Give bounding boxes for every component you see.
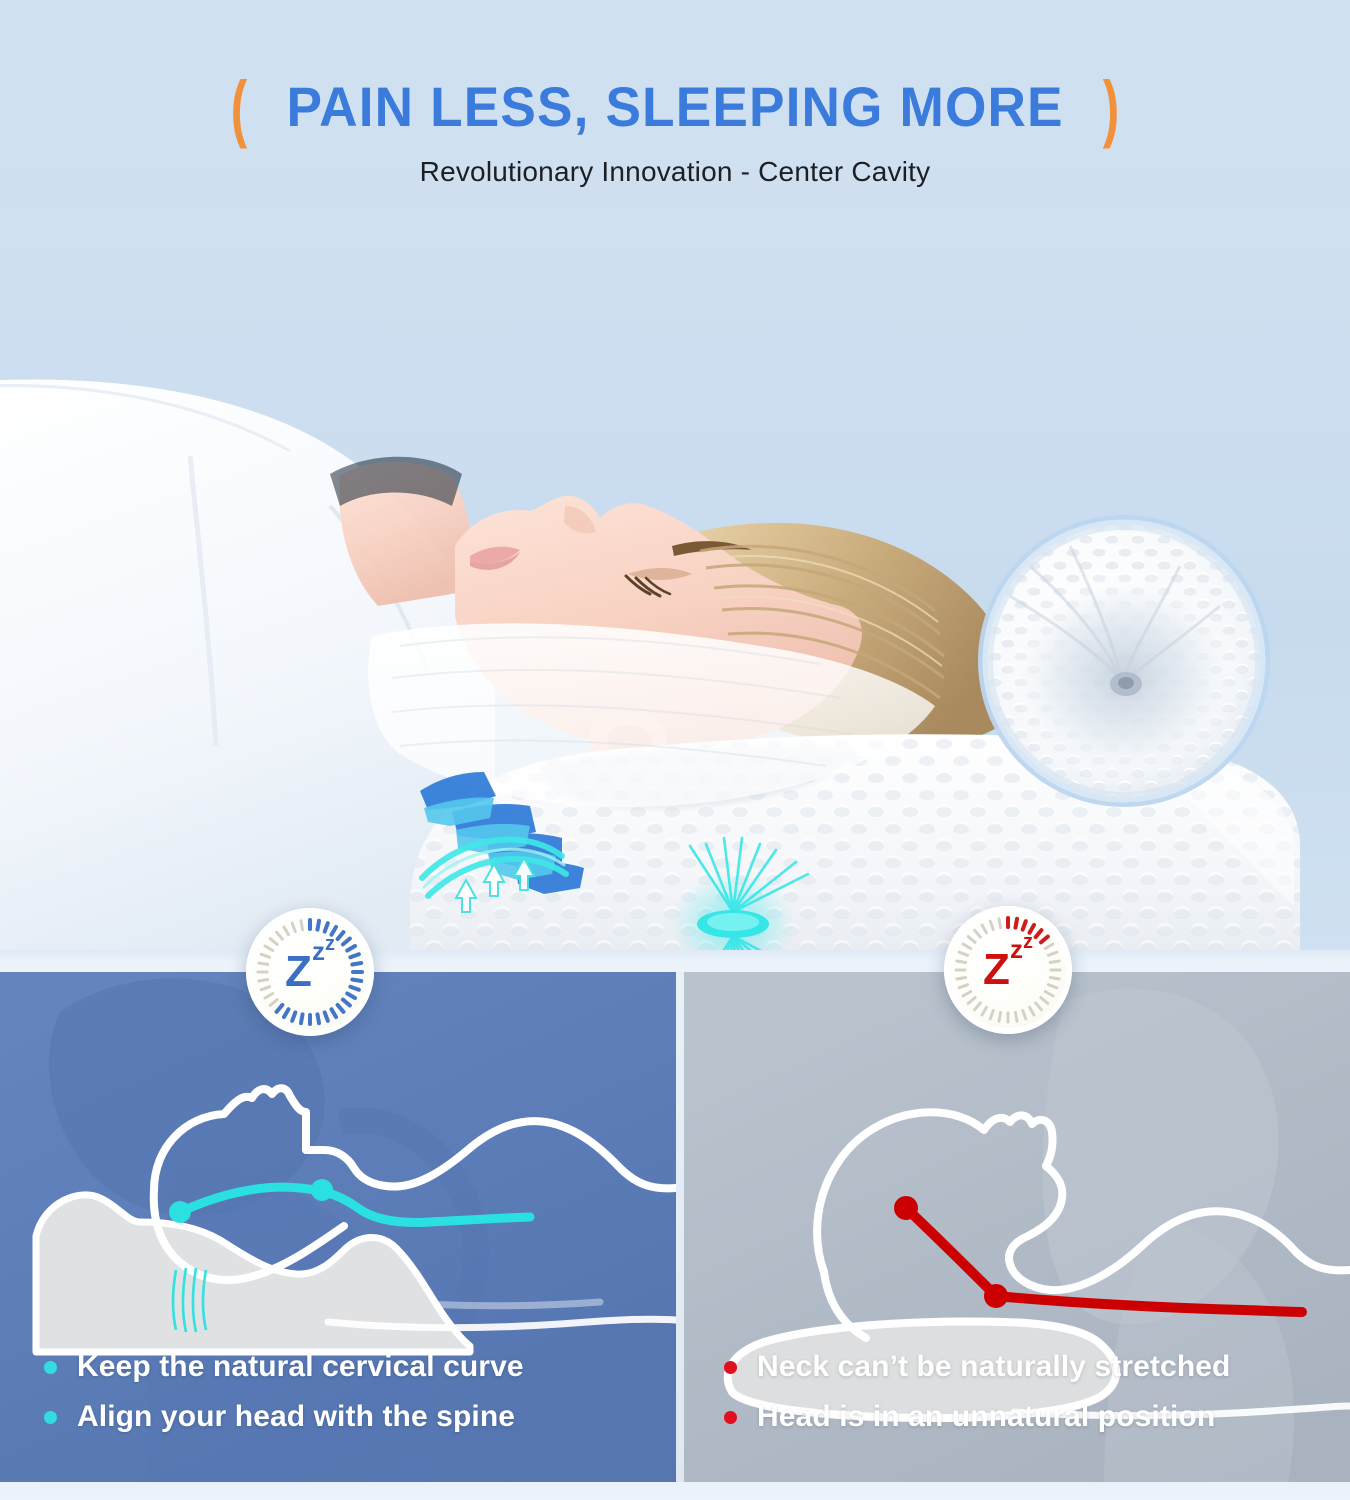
correct-posture-bullets: Keep the natural cervical curve Align yo… bbox=[44, 1350, 652, 1434]
sleep-badge-good: Z z z bbox=[246, 908, 374, 1036]
spine-alignment-line-correct bbox=[169, 1179, 530, 1223]
list-item: Neck can’t be naturally stretched bbox=[724, 1350, 1326, 1384]
footer-strip bbox=[0, 1482, 1350, 1500]
bracket-right-icon: ) bbox=[1103, 70, 1119, 144]
center-cavity-inset bbox=[978, 515, 1270, 807]
bullet-dot-icon bbox=[44, 1411, 57, 1424]
z-large: Z bbox=[285, 950, 312, 994]
bullet-label: Neck can’t be naturally stretched bbox=[757, 1350, 1230, 1384]
correct-posture-panel: Keep the natural cervical curve Align yo… bbox=[0, 972, 676, 1482]
page-subtitle: Revolutionary Innovation - Center Cavity bbox=[420, 156, 931, 188]
bullet-label: Head is in an unnatural position bbox=[757, 1400, 1215, 1434]
z-small: z bbox=[1023, 932, 1033, 952]
z-medium: z bbox=[1010, 936, 1023, 962]
bullet-label: Align your head with the spine bbox=[77, 1400, 515, 1434]
comparison-panels: Keep the natural cervical curve Align yo… bbox=[0, 972, 1350, 1482]
bullet-dot-icon bbox=[724, 1411, 737, 1424]
bullet-label: Keep the natural cervical curve bbox=[77, 1350, 524, 1384]
zzz-group-blue: Z z z bbox=[246, 908, 374, 1036]
header-banner: ( PAIN LESS, SLEEPING MORE ) Revolutiona… bbox=[0, 0, 1350, 210]
headline-row: ( PAIN LESS, SLEEPING MORE ) bbox=[228, 74, 1122, 140]
section-divider-strip bbox=[0, 950, 1350, 974]
list-item: Align your head with the spine bbox=[44, 1400, 652, 1434]
z-medium: z bbox=[312, 938, 325, 964]
hero-product-photo bbox=[0, 206, 1350, 972]
bullet-dot-icon bbox=[724, 1361, 737, 1374]
bullet-dot-icon bbox=[44, 1361, 57, 1374]
z-large: Z bbox=[983, 948, 1010, 992]
page-title: PAIN LESS, SLEEPING MORE bbox=[286, 79, 1063, 135]
zzz-group-red: Z z z bbox=[944, 906, 1072, 1034]
list-item: Keep the natural cervical curve bbox=[44, 1350, 652, 1384]
incorrect-posture-bullets: Neck can’t be naturally stretched Head i… bbox=[724, 1350, 1326, 1434]
panel-divider bbox=[676, 972, 684, 1482]
bracket-left-icon: ( bbox=[231, 70, 247, 144]
sleep-badge-bad: Z z z bbox=[944, 906, 1072, 1034]
hero-illustration bbox=[0, 206, 1350, 972]
list-item: Head is in an unnatural position bbox=[724, 1400, 1326, 1434]
incorrect-posture-panel: Neck can’t be naturally stretched Head i… bbox=[684, 972, 1350, 1482]
product-infographic: ( PAIN LESS, SLEEPING MORE ) Revolutiona… bbox=[0, 0, 1350, 1500]
z-small: z bbox=[325, 934, 335, 954]
